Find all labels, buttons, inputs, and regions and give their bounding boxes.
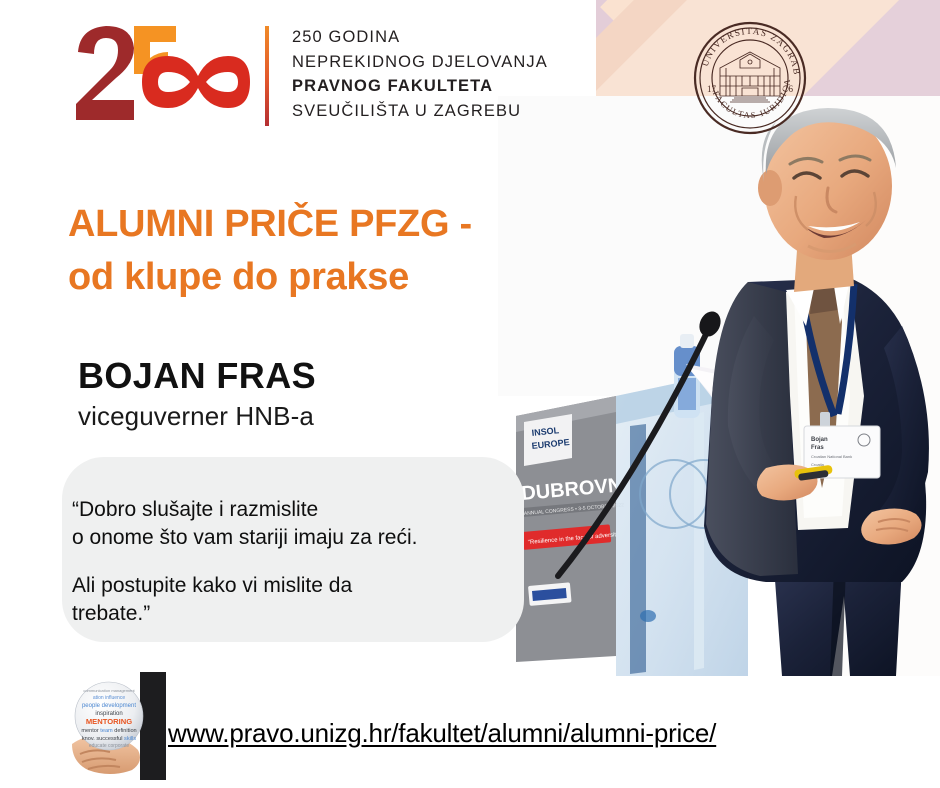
- header-line-4: SVEUČILIŠTA U ZAGREBU: [292, 99, 548, 124]
- speaker-photo: INSOL EUROPE DUBROVNIK ANNUAL CONGRESS •…: [498, 96, 940, 676]
- header-institution-text: 250 GODINA NEPREKIDNOG DJELOVANJA PRAVNO…: [292, 25, 548, 123]
- website-url-link[interactable]: www.pravo.unizg.hr/fakultet/alumni/alumn…: [168, 718, 716, 749]
- speaker-role: viceguverner HNB-a: [78, 401, 314, 432]
- header-divider: [265, 26, 269, 126]
- quote-para2-line1: Ali postupite kako vi mislite da: [72, 572, 522, 600]
- speaker-name: BOJAN FRAS: [78, 355, 316, 397]
- svg-text:knov. successful skills: knov. successful skills: [82, 736, 137, 742]
- svg-text:communication management: communication management: [83, 688, 135, 693]
- svg-text:MENTORING: MENTORING: [86, 717, 132, 726]
- poster-canvas: INSOL EUROPE DUBROVNIK ANNUAL CONGRESS •…: [0, 0, 940, 788]
- title-line-1: ALUMNI PRIČE PFZG -: [68, 203, 472, 245]
- svg-text:people development: people development: [82, 703, 136, 709]
- svg-text:Fras: Fras: [811, 445, 824, 451]
- quote-para1-line2: o onome što vam stariji imaju za reći.: [72, 524, 522, 552]
- logo-250-infinity: [72, 22, 252, 127]
- svg-text:mentor team definition: mentor team definition: [81, 728, 136, 734]
- quote-para2-line2: trebate.”: [72, 600, 522, 628]
- quote-para1-line1: “Dobro slušajte i razmislite: [72, 496, 522, 524]
- svg-text:Bojan: Bojan: [811, 437, 828, 443]
- svg-text:ation influence: ation influence: [93, 695, 125, 701]
- svg-text:76: 76: [784, 84, 794, 94]
- mentoring-word-cloud-icon: communication management ation influence…: [62, 672, 166, 780]
- university-seal-icon: UNIVERSITAS ZAGRABIENSIS FACULTAS IURIDI…: [690, 18, 810, 138]
- header-line-2: NEPREKIDNOG DJELOVANJA: [292, 50, 548, 75]
- svg-text:Croatian National Bank: Croatian National Bank: [811, 454, 852, 459]
- header-line-3: PRAVNOG FAKULTETA: [292, 74, 548, 99]
- quote-spacer: [72, 552, 522, 572]
- header-line-1: 250 GODINA: [292, 25, 548, 50]
- poster-header: 250 GODINA NEPREKIDNOG DJELOVANJA PRAVNO…: [0, 0, 940, 145]
- title-line-2: od klupe do prakse: [68, 251, 538, 304]
- svg-text:UNIVERSITAS ZAGRABIENSIS: UNIVERSITAS ZAGRABIENSIS: [690, 18, 802, 76]
- svg-text:17: 17: [707, 84, 717, 94]
- svg-text:educate corporate: educate corporate: [89, 743, 130, 749]
- page-title: ALUMNI PRIČE PFZG - od klupe do prakse: [68, 198, 538, 304]
- quote-text: “Dobro slušajte i razmislite o onome što…: [72, 496, 522, 628]
